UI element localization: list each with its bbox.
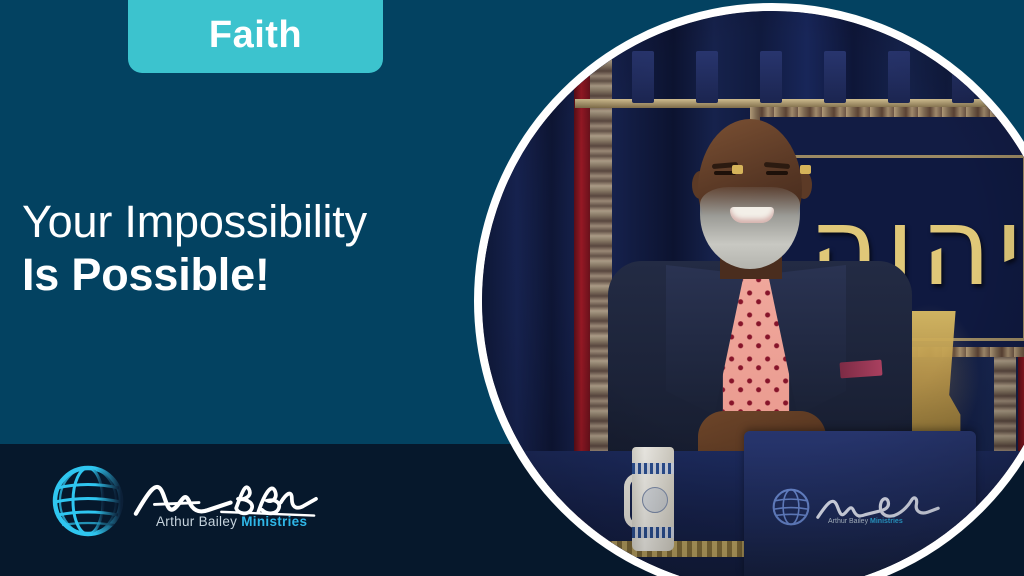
ceramic-stein (624, 447, 680, 551)
page-title: Your Impossibility Is Possible! (22, 198, 452, 301)
title-line-1: Your Impossibility (22, 198, 452, 245)
stein-band (632, 463, 674, 474)
speaker-photo: יהוה (474, 3, 1024, 576)
wordmark-suffix: Ministries (241, 514, 307, 529)
title-line-2: Is Possible! (22, 249, 452, 301)
valance-tab (632, 51, 654, 103)
wordmark-text: Arthur Bailey Ministries (156, 514, 307, 529)
globe-icon (48, 461, 128, 541)
valance-tab (952, 51, 974, 103)
logo-wordmark: Arthur Bailey Ministries (132, 461, 318, 541)
ring (732, 165, 743, 174)
stein-band (632, 527, 674, 538)
podium: Arthur Bailey Ministries (744, 431, 976, 576)
podium-wordmark-name: Arthur Bailey (828, 518, 868, 525)
mouth (730, 207, 774, 223)
category-badge[interactable]: Faith (128, 0, 383, 73)
speaker-figure (602, 119, 922, 479)
photo-inner: יהוה (482, 11, 1024, 576)
podium-signature: Arthur Bailey Ministries (814, 487, 942, 527)
beard (700, 187, 800, 269)
podium-wordmark-suffix: Ministries (870, 518, 903, 525)
eye (766, 171, 788, 175)
valance-tab (696, 51, 718, 103)
podium-logo: Arthur Bailey Ministries (770, 483, 950, 531)
category-badge-label: Faith (209, 16, 302, 58)
valance-tab (760, 51, 782, 103)
title-card: יהוה (0, 0, 1024, 576)
ring (800, 165, 811, 174)
valance-tab (824, 51, 846, 103)
brand-logo[interactable]: Arthur Bailey Ministries (48, 455, 318, 547)
podium-wordmark: Arthur Bailey Ministries (828, 518, 903, 525)
wordmark-name: Arthur Bailey (156, 514, 237, 529)
pocket-square (839, 360, 882, 379)
valance-tab (888, 51, 910, 103)
stein-emblem (642, 487, 668, 513)
globe-icon (770, 486, 812, 528)
